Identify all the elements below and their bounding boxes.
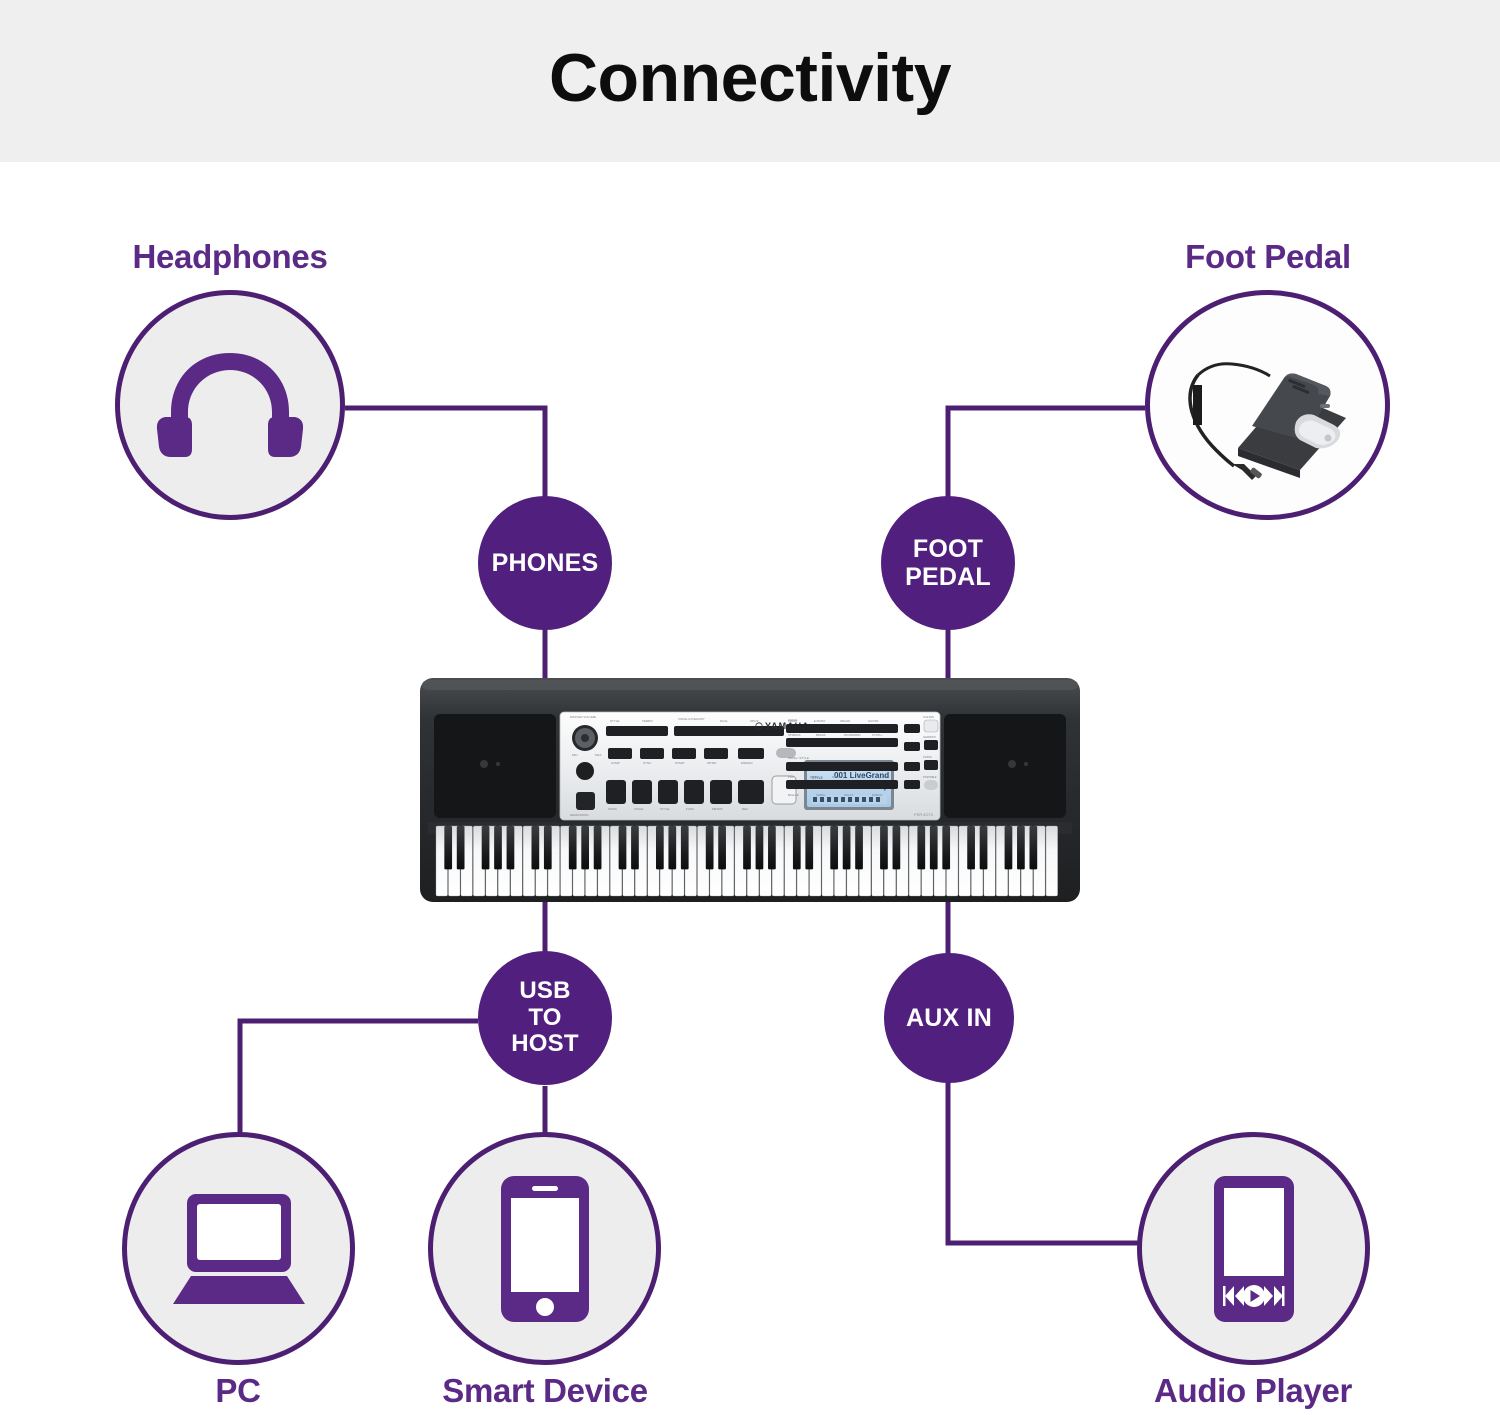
svg-text:TEMPO: TEMPO <box>642 719 653 723</box>
device-headphones[interactable] <box>115 290 345 520</box>
keyboard-psr[interactable]: MASTER VOLUME MINMAX DEMO/SONG STYLETEMP… <box>420 676 1080 904</box>
svg-text:SUSTAIN: SUSTAIN <box>923 715 934 719</box>
caption-pc: PC <box>138 1372 338 1410</box>
headphones-icon <box>155 345 305 465</box>
svg-text:WOODWIND: WOODWIND <box>844 733 860 737</box>
svg-text:BALLAD: BALLAD <box>788 793 799 797</box>
svg-text:MASTER VOLUME: MASTER VOLUME <box>570 715 596 719</box>
caption-foot-pedal: Foot Pedal <box>1148 238 1388 276</box>
svg-text:STRINGS: STRINGS <box>788 733 801 737</box>
svg-text:STYLE: STYLE <box>610 719 620 723</box>
svg-text:VOICE: VOICE <box>634 807 643 811</box>
port-foot-pedal[interactable]: FOOT PEDAL <box>881 496 1015 630</box>
wire-footpedal-to-port <box>948 408 1145 500</box>
caption-smart-device: Smart Device <box>425 1372 665 1410</box>
svg-text:ROCK: ROCK <box>810 775 818 779</box>
port-usb-to-host[interactable]: USB TO HOST <box>478 951 612 1085</box>
svg-text:VOICE CATEGORY: VOICE CATEGORY <box>678 717 705 721</box>
svg-text:SWING: SWING <box>816 793 825 797</box>
svg-text:FUNC: FUNC <box>686 807 695 811</box>
svg-text:REC: REC <box>742 807 749 811</box>
svg-text:SYNTH: SYNTH <box>872 733 881 737</box>
svg-text:SONG: SONG <box>608 807 618 811</box>
device-smart-device[interactable] <box>428 1132 661 1365</box>
svg-text:LATIN: LATIN <box>880 775 888 779</box>
laptop-icon <box>169 1190 309 1308</box>
svg-text:E.PIANO: E.PIANO <box>814 719 826 723</box>
svg-text:TRANS: TRANS <box>923 755 932 759</box>
caption-headphones: Headphones <box>110 238 350 276</box>
port-usb-to-host-label: USB TO HOST <box>511 978 578 1059</box>
device-pc[interactable] <box>122 1132 355 1365</box>
svg-text:PORTABLE: PORTABLE <box>923 775 937 779</box>
svg-text:MARCH: MARCH <box>872 793 882 797</box>
svg-text:ORGAN: ORGAN <box>840 719 850 723</box>
port-phones[interactable]: PHONES <box>478 496 612 630</box>
svg-text:SPLIT: SPLIT <box>750 719 759 723</box>
svg-text:MAX: MAX <box>595 753 602 757</box>
svg-text:SONG / STYLE: SONG / STYLE <box>788 756 809 760</box>
svg-text:JAZZ: JAZZ <box>858 775 865 779</box>
svg-text:SYNC: SYNC <box>643 761 652 765</box>
sustain-pedal-photo <box>1168 330 1368 480</box>
svg-text:ENDING: ENDING <box>741 761 753 765</box>
port-aux-in-label: AUX IN <box>906 1004 992 1032</box>
svg-text:WALTZ: WALTZ <box>844 793 853 797</box>
port-foot-pedal-label: FOOT PEDAL <box>905 535 991 591</box>
port-aux-in[interactable]: AUX IN <box>884 953 1014 1083</box>
svg-text:STYLE: STYLE <box>660 807 670 811</box>
wire-headphones-to-phones <box>345 408 545 500</box>
audio-player-icon <box>1212 1174 1296 1324</box>
wire-usb-to-pc <box>240 1021 478 1134</box>
port-phones-label: PHONES <box>492 549 599 577</box>
svg-text:INTRO: INTRO <box>707 761 717 765</box>
keyboard-illustration: MASTER VOLUME MINMAX DEMO/SONG STYLETEMP… <box>420 676 1080 904</box>
svg-text:DUAL: DUAL <box>720 719 728 723</box>
svg-text:MIN: MIN <box>572 753 578 757</box>
svg-text:PIANO: PIANO <box>788 719 798 723</box>
device-audio-player[interactable] <box>1137 1132 1370 1365</box>
svg-text:PSR-E273: PSR-E273 <box>914 812 934 817</box>
svg-text:BRASS: BRASS <box>816 733 826 737</box>
svg-text:ACMP: ACMP <box>611 761 620 765</box>
svg-text:DANCE: DANCE <box>832 775 842 779</box>
svg-text:METRO: METRO <box>712 807 723 811</box>
connectivity-diagram: Connectivity <box>0 0 1500 1415</box>
smartphone-icon <box>499 1174 591 1324</box>
svg-text:POP: POP <box>788 775 794 779</box>
svg-text:DEMO/SONG: DEMO/SONG <box>570 813 589 817</box>
device-foot-pedal[interactable] <box>1145 290 1390 520</box>
svg-text:START: START <box>675 761 685 765</box>
caption-audio-player: Audio Player <box>1133 1372 1373 1410</box>
svg-text:HARMONY: HARMONY <box>923 735 937 739</box>
wire-aux-to-audioplayer <box>948 1082 1140 1243</box>
svg-text:GUITAR: GUITAR <box>868 719 878 723</box>
